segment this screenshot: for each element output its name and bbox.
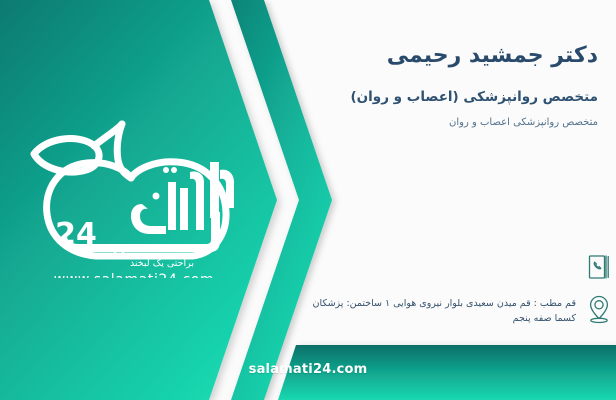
doctor-specialty: متخصص روانپزشکی (اعصاب و روان): [246, 89, 598, 107]
contact-address-value: قم مطب : قم میدن سعیدی بلوار نیروی هوایی…: [264, 292, 576, 326]
page-title: دکتر جمشید رحیمی: [246, 42, 598, 70]
main-teal-block: [0, 0, 277, 400]
contact-row-phone[interactable]: [264, 250, 616, 284]
phone-book-icon: [582, 250, 616, 284]
contact-phone-value: [264, 250, 576, 280]
business-card: 24 براحتی یک لبخند www.salamati24.com دک…: [0, 0, 616, 400]
map-pin-icon: [582, 292, 616, 326]
contact-block: قم مطب : قم میدن سعیدی بلوار نیروی هوایی…: [264, 250, 616, 334]
doctor-specialty-subtitle: متخصص روانپزشکی اعصاب و روان: [246, 116, 598, 129]
contact-row-address[interactable]: قم مطب : قم میدن سعیدی بلوار نیروی هوایی…: [264, 292, 616, 326]
footer-bar: [278, 345, 616, 400]
address-line-2: کسما صفه پنجم: [268, 311, 576, 326]
address-line-1: قم مطب : قم میدن سعیدی بلوار نیروی هوایی…: [268, 296, 576, 311]
